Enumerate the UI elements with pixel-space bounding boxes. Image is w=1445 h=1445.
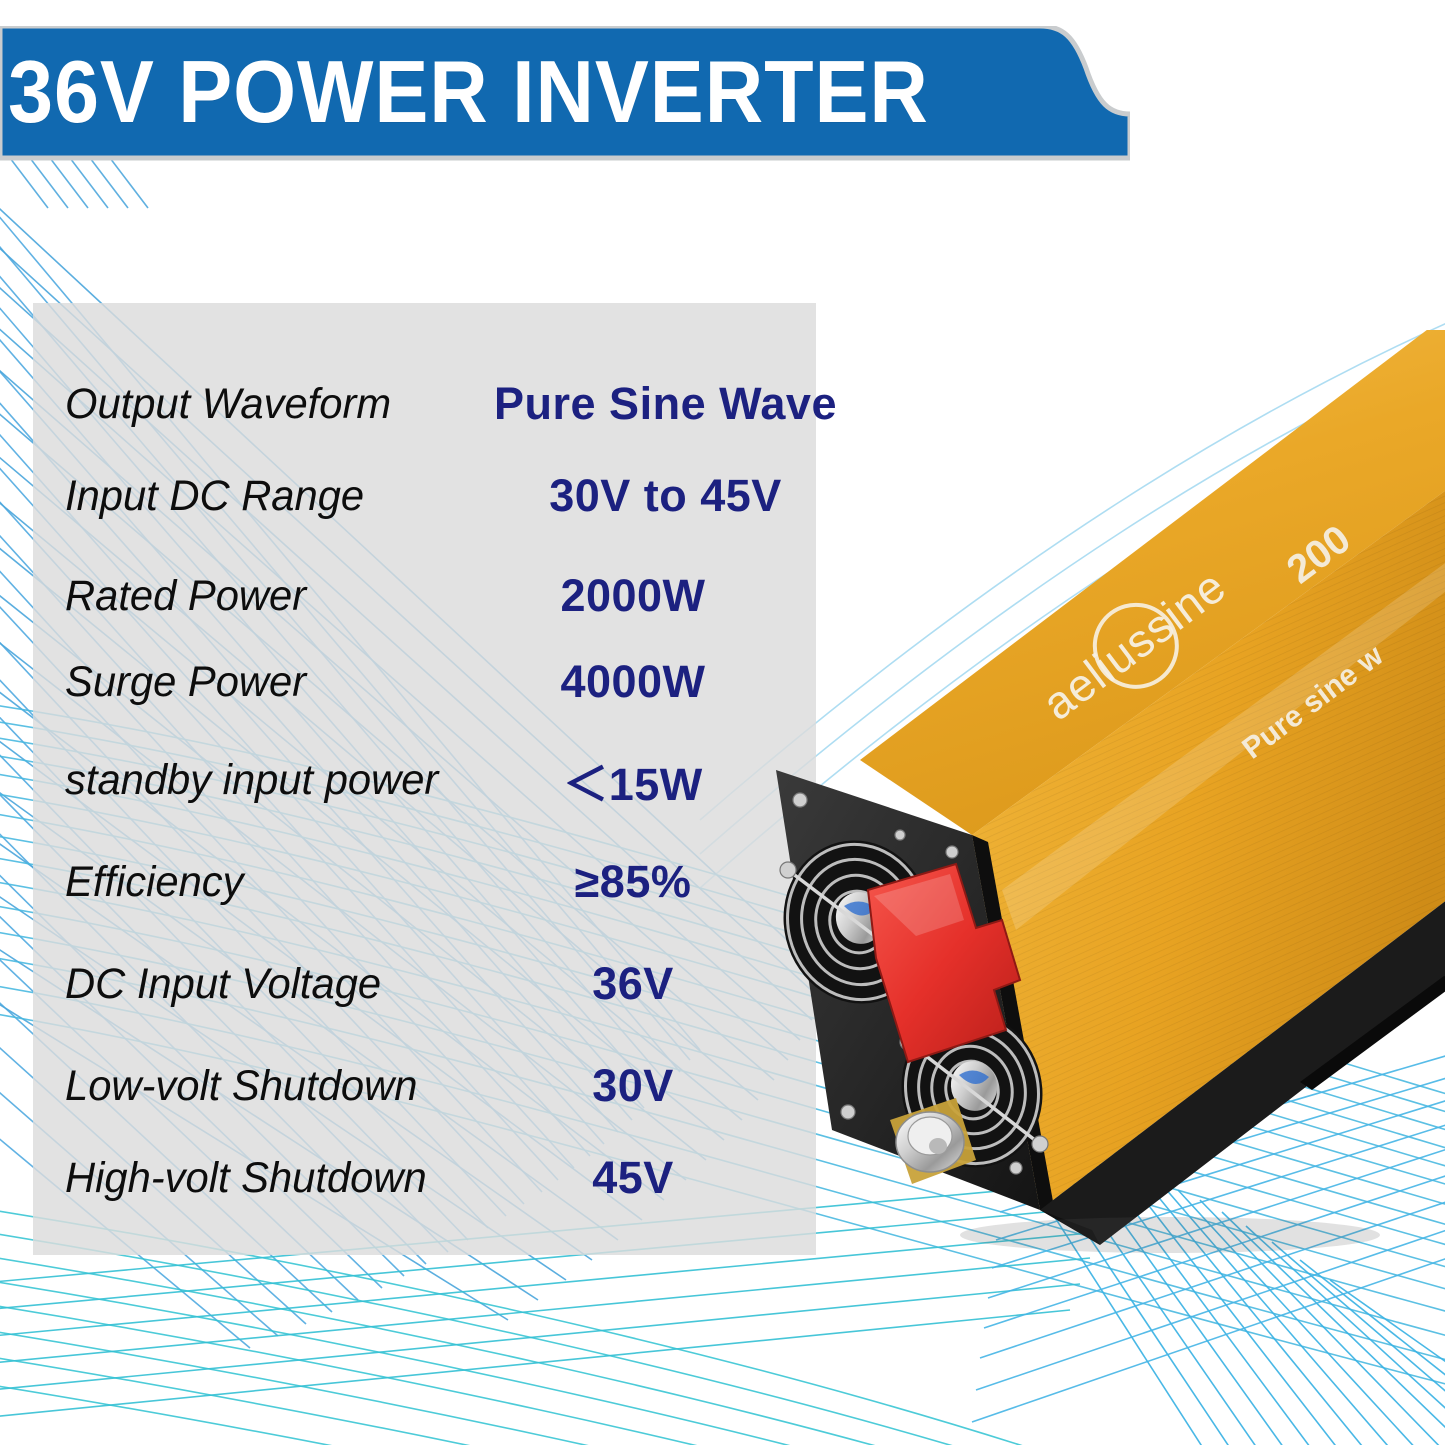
spec-value: 2000W — [463, 570, 803, 622]
spec-label: Low-volt Shutdown — [65, 1062, 417, 1111]
spec-label: Input DC Range — [65, 472, 364, 521]
table-row: standby input power ＜15W — [33, 751, 816, 809]
table-row: High-volt Shutdown 45V — [33, 1149, 816, 1207]
table-row: Efficiency ≥85% — [33, 853, 816, 911]
spec-label: High-volt Shutdown — [65, 1154, 427, 1203]
spec-value: 45V — [463, 1152, 803, 1204]
table-row: Output Waveform Pure Sine Wave — [33, 375, 816, 433]
spec-value: 30V to 45V — [463, 470, 868, 522]
spec-label: DC Input Voltage — [65, 960, 381, 1009]
product-infographic: 36V POWER INVERTER — [0, 0, 1445, 1445]
spec-label: standby input power — [65, 756, 438, 805]
table-row: Surge Power 4000W — [33, 653, 816, 711]
spec-value: Pure Sine Wave — [463, 378, 868, 430]
spec-label: Output Waveform — [65, 380, 391, 429]
spec-label: Surge Power — [65, 658, 306, 707]
table-row: Input DC Range 30V to 45V — [33, 467, 816, 525]
table-row: Rated Power 2000W — [33, 567, 816, 625]
spec-value: ≥85% — [463, 856, 803, 908]
page-title: 36V POWER INVERTER — [8, 28, 929, 156]
spec-value: 36V — [463, 958, 803, 1010]
spec-label: Efficiency — [65, 858, 243, 907]
spec-value: 4000W — [463, 656, 803, 708]
specification-table: Output Waveform Pure Sine Wave Input DC … — [33, 303, 816, 1255]
spec-value: ＜15W — [463, 748, 803, 813]
table-row: Low-volt Shutdown 30V — [33, 1057, 816, 1115]
spec-label: Rated Power — [65, 572, 306, 621]
spec-value: 30V — [463, 1060, 803, 1112]
table-row: DC Input Voltage 36V — [33, 955, 816, 1013]
